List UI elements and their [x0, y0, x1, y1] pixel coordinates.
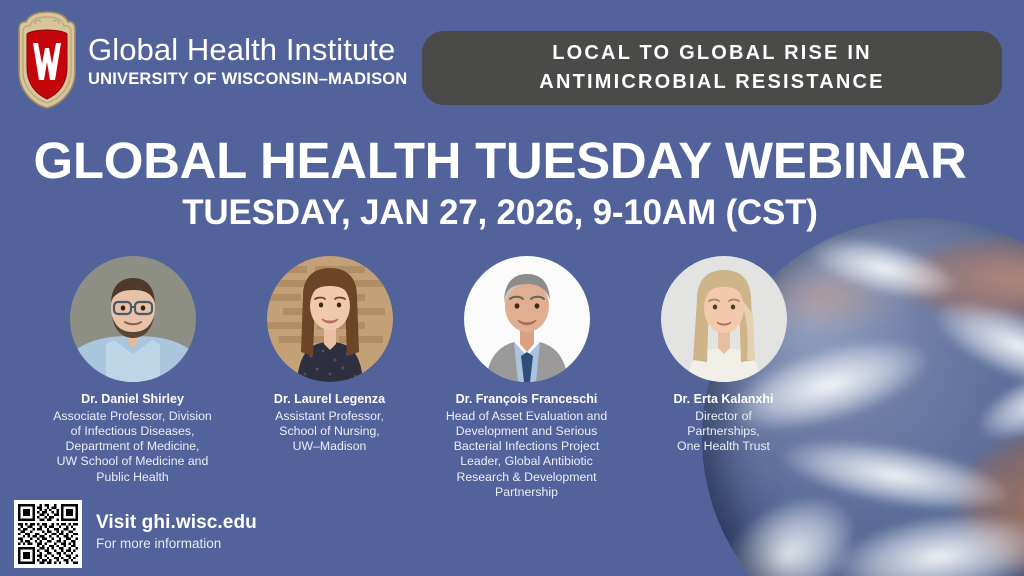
more-info-label: For more information: [96, 536, 257, 552]
topic-line-2: ANTIMICROBIAL RESISTANCE: [539, 71, 884, 93]
footer-text-block: Visit ghi.wisc.edu For more information: [96, 512, 257, 556]
topic-line-1: LOCAL TO GLOBAL RISE IN: [552, 42, 872, 64]
speaker-card: Dr. Erta Kalanxhi Director of Partnershi…: [625, 256, 822, 454]
speaker-photo: [70, 256, 196, 382]
speaker-role: Head of Asset Evaluation and Development…: [446, 409, 607, 500]
webinar-poster: Global Health Institute UNIVERSITY OF WI…: [0, 0, 1024, 576]
poster-footer: Visit ghi.wisc.edu For more information: [14, 500, 257, 568]
speaker-card: Dr. François Franceschi Head of Asset Ev…: [428, 256, 625, 500]
visit-url[interactable]: Visit ghi.wisc.edu: [96, 512, 257, 534]
speaker-card: Dr. Daniel Shirley Associate Professor, …: [34, 256, 231, 485]
brand-lockup: Global Health Institute UNIVERSITY OF WI…: [88, 34, 407, 88]
brand-subtitle: UNIVERSITY OF WISCONSIN–MADISON: [88, 71, 407, 88]
speaker-photo: [661, 256, 787, 382]
topic-banner: LOCAL TO GLOBAL RISE IN ANTIMICROBIAL RE…: [422, 31, 1002, 105]
speaker-card: Dr. Laurel Legenza Assistant Professor, …: [231, 256, 428, 454]
uw-crest-icon: [14, 10, 80, 110]
speaker-photo: [267, 256, 393, 382]
qr-code[interactable]: [14, 500, 82, 568]
event-headline: GLOBAL HEALTH TUESDAY WEBINAR: [0, 134, 1000, 188]
brand-title: Global Health Institute: [88, 34, 407, 65]
speaker-role: Assistant Professor, School of Nursing, …: [275, 409, 384, 455]
speaker-photo: [464, 256, 590, 382]
poster-header: Global Health Institute UNIVERSITY OF WI…: [0, 0, 1024, 118]
speaker-role: Director of Partnerships, One Health Tru…: [677, 409, 770, 455]
speaker-name: Dr. Daniel Shirley: [81, 392, 184, 408]
event-datetime: TUESDAY, JAN 27, 2026, 9-10AM (CST): [0, 194, 1000, 233]
speaker-name: Dr. Laurel Legenza: [274, 392, 385, 408]
speaker-role: Associate Professor, Division of Infecti…: [53, 409, 212, 485]
speaker-list: Dr. Daniel Shirley Associate Professor, …: [34, 256, 824, 500]
speaker-name: Dr. François Franceschi: [456, 392, 598, 408]
speaker-name: Dr. Erta Kalanxhi: [673, 392, 773, 408]
topic-banner-text: LOCAL TO GLOBAL RISE IN ANTIMICROBIAL RE…: [539, 39, 884, 97]
